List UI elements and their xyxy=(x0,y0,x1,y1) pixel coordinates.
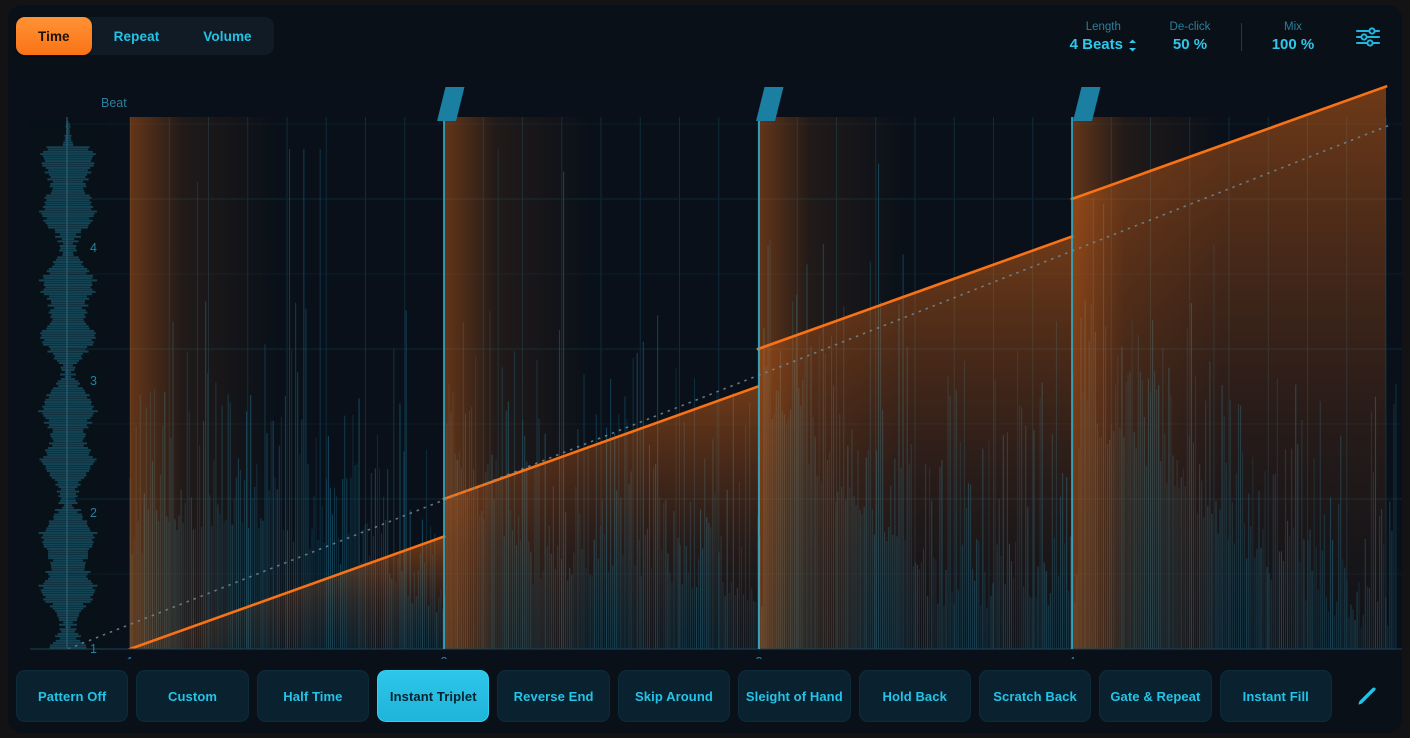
plot-canvas[interactable]: Beat xyxy=(8,69,1402,669)
pattern-button-pattern-off[interactable]: Pattern Off xyxy=(16,670,128,722)
y-tick-label: 3 xyxy=(90,374,97,388)
tab-repeat[interactable]: Repeat xyxy=(92,17,182,55)
sliders-icon[interactable] xyxy=(1350,21,1386,53)
readout-mix-label: Mix xyxy=(1284,20,1302,35)
pattern-button-half-time[interactable]: Half Time xyxy=(257,670,369,722)
pattern-button-skip-around[interactable]: Skip Around xyxy=(618,670,730,722)
readout-length-value: 4 Beats xyxy=(1070,35,1137,54)
readout-mix[interactable]: Mix 100 % xyxy=(1250,20,1336,54)
y-tick-label: 2 xyxy=(90,506,97,520)
pencil-icon[interactable] xyxy=(1340,670,1394,722)
readout-declick-value: 50 % xyxy=(1173,35,1207,54)
time-map-plot[interactable]: Beat xyxy=(8,69,1402,669)
stepper-updown-icon[interactable] xyxy=(1128,38,1137,51)
pattern-button-hold-back[interactable]: Hold Back xyxy=(859,670,971,722)
readout-length[interactable]: Length 4 Beats xyxy=(1060,20,1147,54)
readout-declick[interactable]: De-click 50 % xyxy=(1147,20,1233,54)
pattern-toolbar: Pattern Off Custom Half Time Instant Tri… xyxy=(8,659,1402,733)
parameter-readouts: Length 4 Beats De-click 50 % xyxy=(1060,15,1386,59)
readout-length-label: Length xyxy=(1086,20,1121,35)
tab-time[interactable]: Time xyxy=(16,17,92,55)
pattern-button-instant-fill[interactable]: Instant Fill xyxy=(1220,670,1332,722)
readout-divider xyxy=(1241,23,1242,51)
pattern-button-custom[interactable]: Custom xyxy=(136,670,248,722)
header-bar: Time Repeat Volume Length 4 Beats xyxy=(8,5,1402,69)
y-tick-label: 4 xyxy=(90,241,97,255)
tab-volume[interactable]: Volume xyxy=(181,17,273,55)
pattern-button-scratch-back[interactable]: Scratch Back xyxy=(979,670,1091,722)
readout-length-text: 4 Beats xyxy=(1070,35,1123,54)
y-tick-label: 1 xyxy=(90,642,97,656)
pattern-button-instant-triplet[interactable]: Instant Triplet xyxy=(377,670,489,722)
pattern-button-sleight-of-hand[interactable]: Sleight of Hand xyxy=(738,670,850,722)
mode-tab-group: Time Repeat Volume xyxy=(16,17,274,55)
time-editor-panel: Time Repeat Volume Length 4 Beats xyxy=(8,5,1402,733)
pattern-button-reverse-end[interactable]: Reverse End xyxy=(497,670,609,722)
readout-mix-value: 100 % xyxy=(1272,35,1315,54)
plot-axis-title: Beat xyxy=(101,96,127,110)
app-root: Time Repeat Volume Length 4 Beats xyxy=(0,0,1410,738)
readout-declick-label: De-click xyxy=(1170,20,1211,35)
pattern-button-gate-repeat[interactable]: Gate & Repeat xyxy=(1099,670,1211,722)
